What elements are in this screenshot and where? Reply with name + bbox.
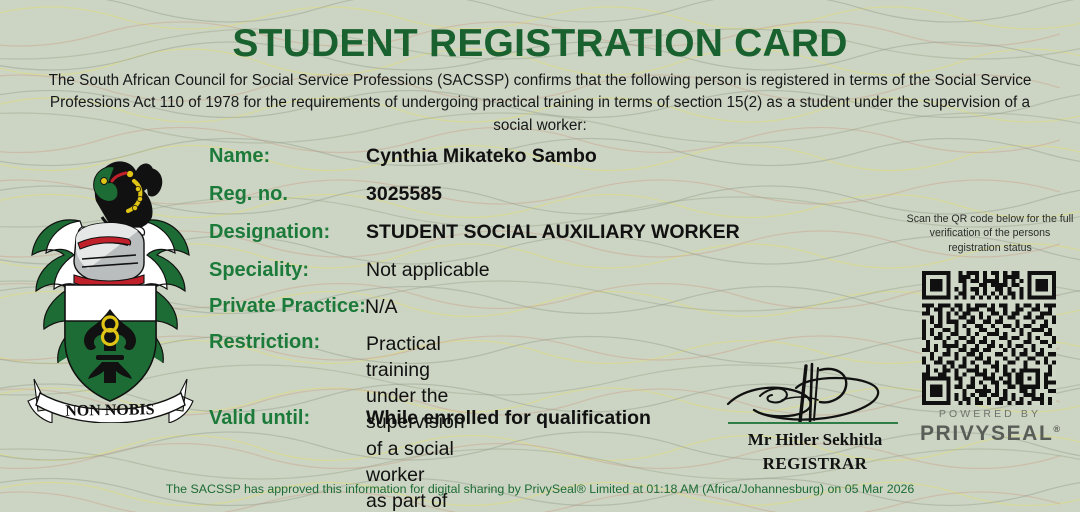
handwritten-signature-icon (720, 360, 910, 426)
field-value-reg-no: 3025585 (366, 183, 442, 206)
field-row-valid-until: Valid until: While enrolled for qualific… (209, 407, 310, 430)
page-title: STUDENT REGISTRATION CARD (0, 22, 1080, 66)
field-row-name: Name: Cynthia Mikateko Sambo (209, 145, 270, 168)
student-registration-card: STUDENT REGISTRATION CARD The South Afri… (0, 0, 1080, 512)
qr-code-icon[interactable] (922, 271, 1056, 405)
field-row-private-practice: Private Practice: N/A (209, 295, 366, 318)
field-label-reg-no: Reg. no. (209, 183, 288, 206)
field-label-restriction: Restriction: (209, 331, 320, 354)
registrar-name: Mr Hitler Sekhitla (700, 430, 930, 450)
privyseal-text: PRIVYSEAL (920, 422, 1053, 445)
field-label-valid-until: Valid until: (209, 407, 310, 430)
field-label-speciality: Speciality: (209, 259, 309, 282)
qr-instruction-text: Scan the QR code below for the full veri… (905, 212, 1075, 255)
field-value-valid-until: While enrolled for qualification (366, 407, 651, 430)
sacssp-coat-of-arms-icon: NON NOBIS (18, 143, 203, 423)
trademark-symbol: ® (1053, 424, 1060, 434)
registrar-role: REGISTRAR (700, 454, 930, 474)
intro-paragraph: The South African Council for Social Ser… (30, 70, 1050, 137)
field-row-speciality: Speciality: Not applicable (209, 259, 309, 282)
field-row-reg-no: Reg. no. 3025585 (209, 183, 288, 206)
field-value-name: Cynthia Mikateko Sambo (366, 145, 597, 168)
approval-footer: The SACSSP has approved this information… (0, 482, 1080, 496)
field-label-name: Name: (209, 145, 270, 168)
field-label-designation: Designation: (209, 221, 330, 244)
powered-by-label: POWERED BY (905, 408, 1075, 420)
privyseal-branding: POWERED BY PRIVYSEAL® (905, 408, 1075, 446)
field-label-private-practice: Private Practice: (209, 295, 366, 318)
field-row-designation: Designation: STUDENT SOCIAL AUXILIARY WO… (209, 221, 330, 244)
field-value-private-practice: N/A (365, 296, 398, 319)
field-row-restriction: Restriction: Practical training under th… (209, 331, 320, 354)
field-value-speciality: Not applicable (366, 259, 490, 282)
signature-underline (728, 422, 898, 424)
emblem-motto-text: NON NOBIS (65, 401, 155, 420)
field-value-designation: STUDENT SOCIAL AUXILIARY WORKER (366, 221, 740, 244)
privyseal-wordmark: PRIVYSEAL® (905, 422, 1075, 446)
